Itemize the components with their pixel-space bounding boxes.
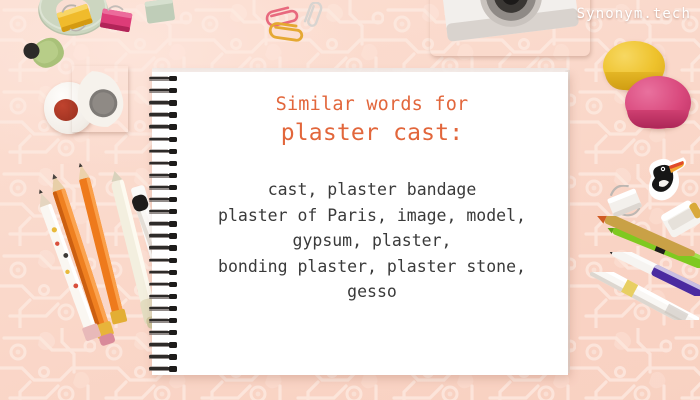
macaron-pink-foot [627,110,689,128]
spiral-ring [146,209,180,214]
synonym-line: plaster of Paris, image, model, [186,203,558,229]
spiral-ring [146,197,180,202]
synonym-line: gesso [186,279,558,305]
spiral-ring [146,173,180,178]
spiral-binding [146,72,184,375]
card-text-block: Similar words for plaster cast: cast, pl… [186,92,558,305]
spiral-ring [146,137,180,142]
camera [430,0,590,56]
spiral-ring [146,76,180,81]
spiral-ring [146,342,180,347]
spiral-ring [146,233,180,238]
synonym-line: gypsum, plaster, [186,228,558,254]
spiral-ring [146,354,180,359]
spiral-ring [146,245,180,250]
spiral-ring [146,294,180,299]
eraser-avocado-half [72,66,128,132]
eraser-avocado-green [22,32,70,76]
spiral-ring [146,330,180,335]
brand-logo[interactable]: Synonym.tech [577,6,691,22]
spiral-ring [146,100,180,105]
marker-white [578,272,700,320]
spiral-ring [146,124,180,129]
spiral-ring [146,185,180,190]
search-term: plaster cast: [186,118,558,148]
binder-clip-yellow [53,2,97,36]
paperclip-white [302,2,326,32]
spiral-ring [146,270,180,275]
crayon-orange [586,216,700,256]
heading-prefix: Similar words for [186,92,558,118]
synonym-line: bonding plaster, plaster stone, [186,254,558,280]
spiral-ring [146,161,180,166]
binder-clip-pink [96,4,138,38]
spiral-ring [146,112,180,117]
spiral-ring [146,258,180,263]
spiral-ring [146,149,180,154]
screenshot-scene: Similar words for plaster cast: cast, pl… [0,0,700,400]
synonym-list: cast, plaster bandageplaster of Paris, i… [186,177,558,305]
synonym-line: cast, plaster bandage [186,177,558,203]
spiral-ring [146,221,180,226]
spiral-ring [146,306,180,311]
spiral-ring [146,88,180,93]
spiral-ring [146,366,180,371]
spiral-ring [146,318,180,323]
spiral-ring [146,282,180,287]
binder-clip-mint [140,0,180,30]
